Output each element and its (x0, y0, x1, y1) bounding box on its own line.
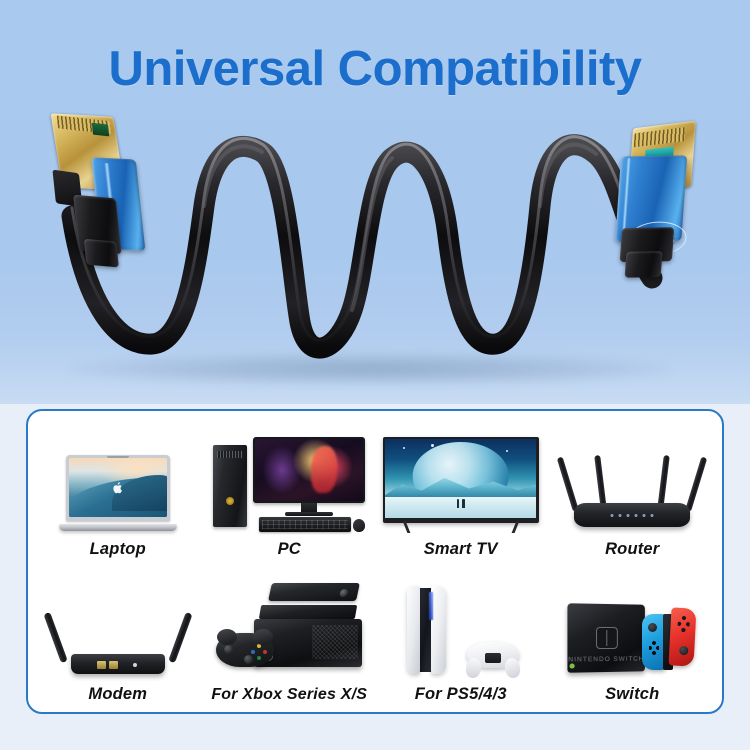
device-label-switch: Switch (605, 685, 659, 704)
device-cell-xbox[interactable]: For Xbox Series X/S (204, 563, 376, 709)
tv-star (403, 447, 405, 449)
smart-tv-icon (375, 429, 547, 533)
modem-ethernet-ports (97, 661, 118, 669)
joycon-left-stick (648, 623, 657, 632)
device-label-laptop: Laptop (90, 540, 146, 559)
nintendo-switch-icon: NINTENDO SWITCH (547, 574, 719, 678)
pc-keyboard (259, 517, 351, 532)
dualsense-body (467, 642, 519, 668)
router-antenna (685, 456, 707, 511)
switch-status-led (570, 663, 575, 668)
apple-logo-icon (112, 482, 123, 495)
router-body (574, 503, 690, 527)
joycon-right-abxy (678, 616, 691, 633)
xbox-left-stick (224, 645, 233, 654)
modem-indicator (133, 663, 137, 667)
device-label-router: Router (605, 540, 659, 559)
playstation-console-icon (375, 574, 547, 678)
switch-logo-icon (596, 627, 618, 649)
pc-tower-power-badge (226, 497, 234, 505)
dualsense-controller (467, 636, 519, 672)
xbox-abxy-buttons (251, 644, 267, 660)
hero-product-banner: Universal Compatibility CAT8 (0, 0, 750, 404)
compatible-devices-panel: Laptop PC (26, 409, 724, 714)
device-cell-pc[interactable]: PC (204, 417, 376, 563)
laptop-icon (32, 429, 204, 533)
xbox-controller-body (216, 633, 274, 667)
page-title: Universal Compatibility (0, 41, 750, 97)
desktop-pc-icon (204, 429, 376, 533)
device-label-modem: Modem (88, 685, 147, 704)
joycon-right-stick (679, 646, 688, 655)
laptop-lid (66, 455, 170, 521)
joycon-left-dpad (649, 641, 659, 655)
rj45-connector-left (39, 107, 160, 277)
modem-antenna (43, 612, 67, 663)
ps5-left-panel (407, 586, 420, 674)
xbox-midsection (259, 605, 357, 619)
tv-figures-graphic (457, 499, 465, 508)
device-label-pc: PC (278, 540, 301, 559)
xbox-console-icon (204, 575, 376, 679)
device-label-smart-tv: Smart TV (424, 540, 498, 559)
device-grid: Laptop PC (28, 411, 722, 712)
laptop-screen (69, 458, 167, 517)
ps5-led-strip (429, 592, 433, 620)
tv-star (506, 450, 508, 452)
switch-wordmark: NINTENDO SWITCH (569, 656, 645, 664)
router-antenna (557, 456, 579, 511)
pc-mouse (353, 519, 365, 532)
dualsense-touchpad (485, 653, 501, 663)
pc-monitor (253, 437, 365, 503)
router-status-leds (611, 514, 654, 517)
device-cell-router[interactable]: Router (547, 417, 719, 563)
joycon-right-red (669, 607, 697, 666)
device-label-playstation: For PS5/4/3 (415, 685, 507, 704)
laptop-base (59, 524, 177, 531)
modem-icon (32, 574, 204, 678)
tv-star (431, 444, 434, 447)
device-label-xbox: For Xbox Series X/S (211, 686, 367, 704)
device-cell-switch[interactable]: NINTENDO SWITCH Switch (547, 563, 719, 709)
device-cell-laptop[interactable]: Laptop (32, 417, 204, 563)
rj45-cable-exit-right (625, 251, 663, 278)
device-cell-smart-tv[interactable]: Smart TV (375, 417, 547, 563)
ps5-console-body (407, 586, 451, 674)
switch-console-dock: NINTENDO SWITCH (568, 603, 645, 673)
rj45-cable-exit-left (84, 239, 119, 268)
device-cell-playstation[interactable]: For PS5/4/3 (375, 563, 547, 709)
tv-screen (385, 439, 536, 518)
pc-tower (213, 445, 247, 527)
ps5-right-panel (431, 586, 446, 674)
pc-monitor-screen (255, 439, 363, 501)
xbox-controller (214, 629, 276, 673)
modem-antenna (168, 612, 192, 663)
rj45-pcb-left (92, 123, 110, 137)
modem-body (71, 654, 165, 674)
pc-monitor-stand-foot (285, 512, 333, 516)
xbox-kinect-sensor (268, 583, 360, 601)
rj45-connector-right: CAT8 (599, 121, 710, 283)
router-icon (547, 429, 719, 533)
tv-bezel (383, 437, 539, 523)
device-cell-modem[interactable]: Modem (32, 563, 204, 709)
xbox-vent-mesh (312, 625, 358, 659)
